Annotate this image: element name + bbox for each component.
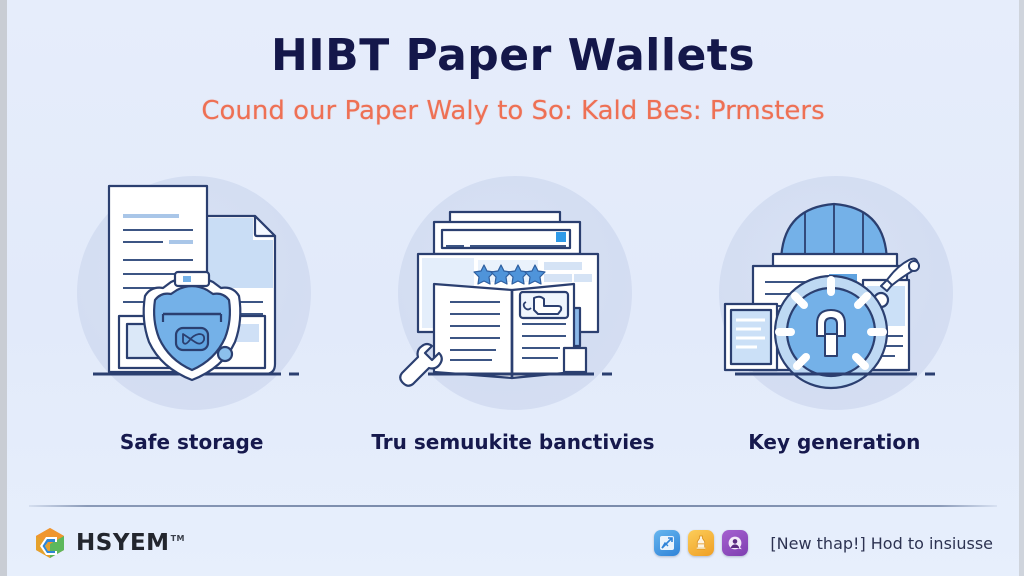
page-subtitle: Cound our Paper Waly to So: Kald Bes: Pr…	[7, 96, 1019, 126]
slide-canvas: HIBT Paper Wallets Cound our Paper Waly …	[0, 0, 1024, 576]
page-title: HIBT Paper Wallets	[7, 30, 1019, 81]
trademark-mark: TM	[171, 534, 185, 543]
hexagon-cube-logo	[33, 526, 67, 560]
browser-windows-with-open-book-icon	[388, 168, 638, 418]
bottle-app-icon[interactable]	[688, 530, 714, 556]
feature-card-safe-storage[interactable]: Safe storage	[42, 168, 342, 454]
avatar-chat-app-icon[interactable]	[722, 530, 748, 556]
illustration-wrap	[709, 168, 959, 418]
feature-card-security-activities[interactable]: Tru semuukite banctivies	[363, 168, 663, 454]
feature-card-label: Safe storage	[120, 430, 264, 454]
footer-right-group: [New thap!] Hod to insiusse	[654, 530, 993, 556]
illustration-wrap	[67, 168, 317, 418]
feature-card-label: Key generation	[748, 430, 920, 454]
documents-with-shield-icon	[67, 168, 317, 418]
chart-arrow-app-icon[interactable]	[654, 530, 680, 556]
vault-with-key-icon	[709, 168, 959, 418]
feature-card-key-generation[interactable]: Key generation	[684, 168, 984, 454]
app-icon-row	[654, 530, 748, 556]
footer-note-text: [New thap!] Hod to insiusse	[770, 534, 993, 553]
brand-name: HSYEMTM	[76, 530, 185, 556]
feature-card-label: Tru semuukite banctivies	[371, 430, 654, 454]
footer-divider	[29, 505, 997, 507]
brand-logo-group[interactable]: HSYEMTM	[33, 526, 185, 560]
footer-bar: HSYEMTM	[7, 512, 1019, 574]
illustration-wrap	[388, 168, 638, 418]
feature-card-row: Safe storage	[31, 168, 995, 454]
